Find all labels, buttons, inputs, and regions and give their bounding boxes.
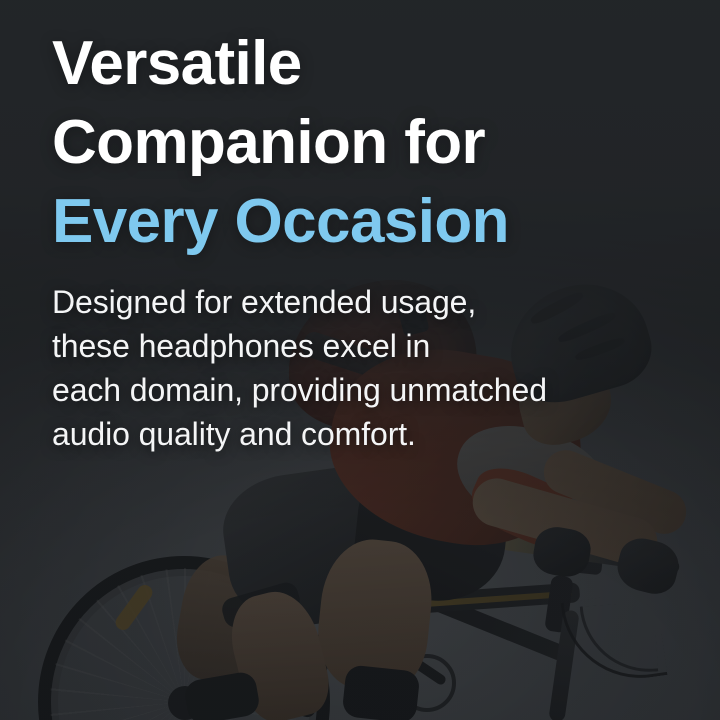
subcopy-line-3: each domain, providing unmatched: [52, 368, 547, 412]
banner-description: Designed for extended usage, these headp…: [52, 280, 547, 456]
headline-line-3-accent: Every Occasion: [52, 182, 509, 261]
subcopy-line-4: audio quality and comfort.: [52, 412, 547, 456]
banner-content: Versatile Companion for Every Occasion D…: [0, 0, 720, 720]
subcopy-line-2: these headphones excel in: [52, 324, 547, 368]
headline-line-1: Versatile: [52, 24, 509, 103]
headline-line-2: Companion for: [52, 103, 509, 182]
page-title: Versatile Companion for Every Occasion: [52, 24, 509, 261]
promo-banner: Versatile Companion for Every Occasion D…: [0, 0, 720, 720]
subcopy-line-1: Designed for extended usage,: [52, 280, 547, 324]
